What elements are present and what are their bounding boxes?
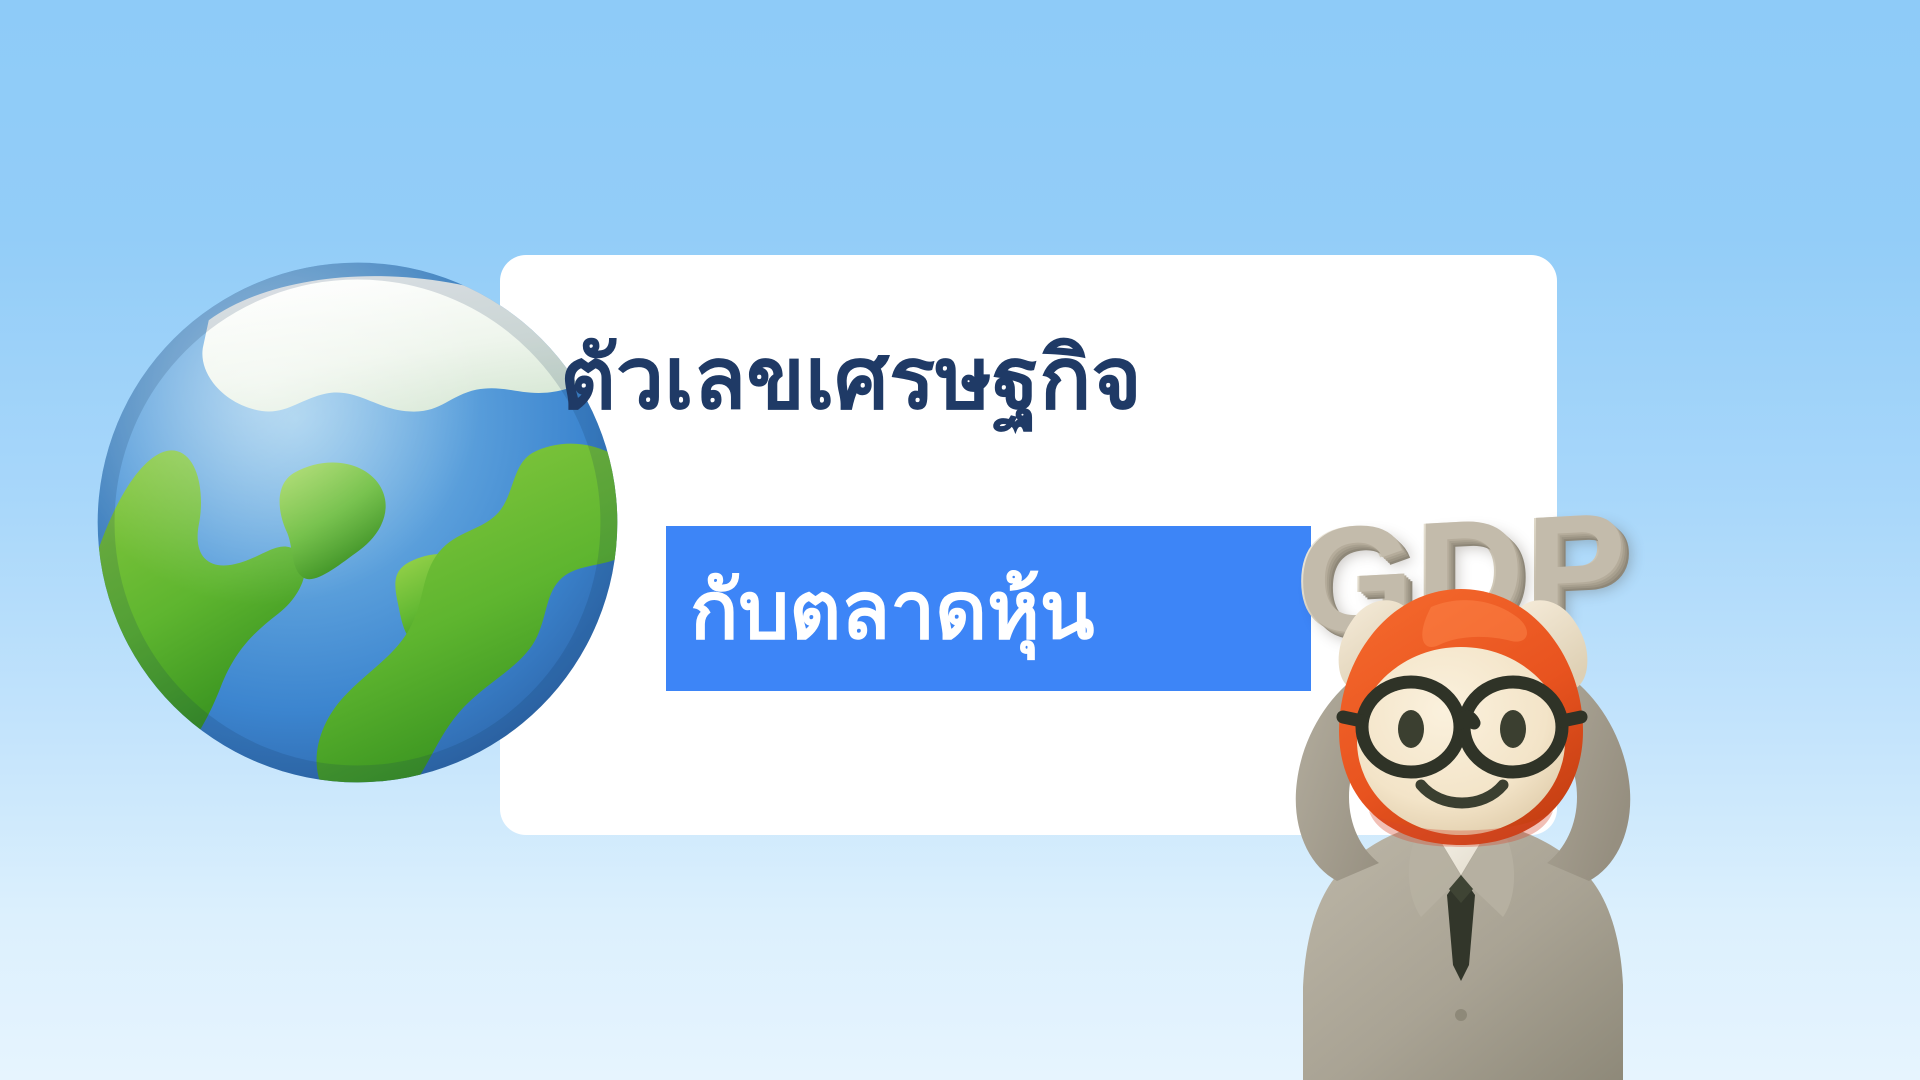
- earth-globe-3d: [60, 225, 655, 820]
- highlight-band-label: กับตลาดหุ้น: [690, 540, 1310, 680]
- headline-block: ตัวเลขเศรษฐกิจ: [560, 330, 1460, 490]
- poster-canvas: ตัวเลขเศรษฐกิจ กับตลาดหุ้น GDP: [0, 0, 1920, 1080]
- businessman-character-3d: [1245, 545, 1675, 1080]
- page-title: ตัวเลขเศรษฐกิจ: [560, 330, 1460, 429]
